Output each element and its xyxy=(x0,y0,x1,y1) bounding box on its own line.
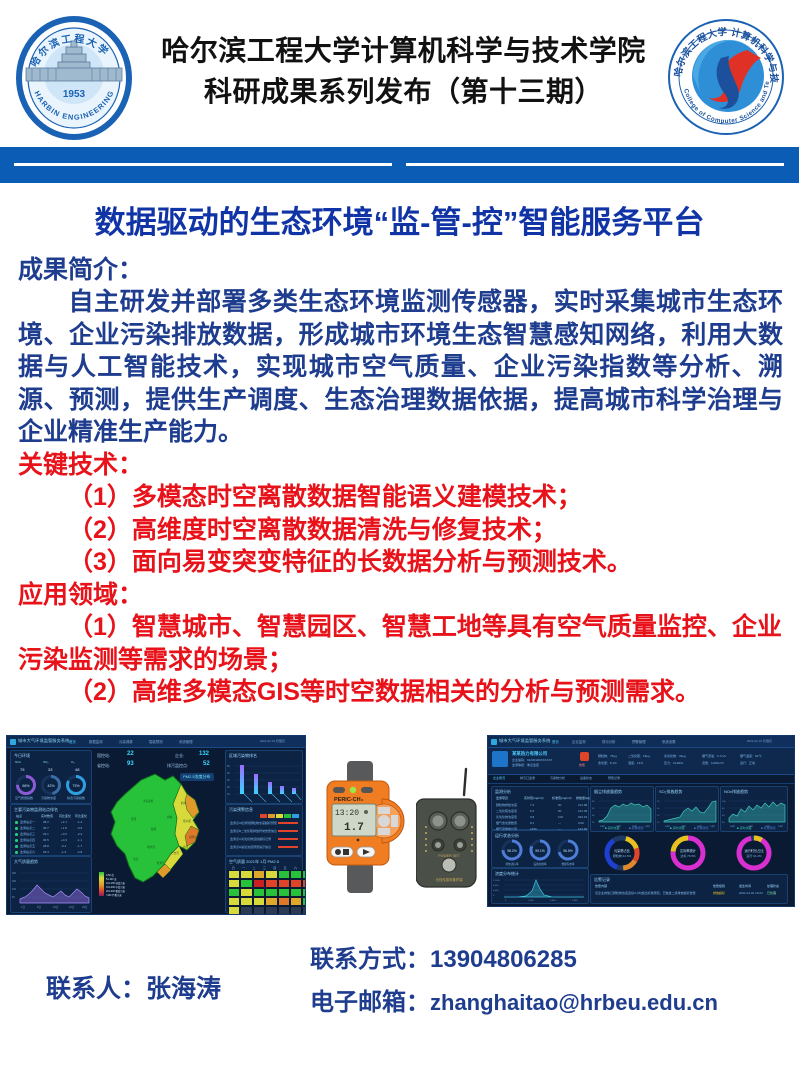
poster-header: 1953 HARBIN ENGINEERING UNIVERSITY 哈尔滨工程… xyxy=(0,0,799,143)
dashboard-user-info: 2021-01-01 管理员 xyxy=(260,739,285,743)
svg-text:2,000: 2,000 xyxy=(550,900,556,902)
right-gauge-group: 98.2% 99.1% 96.5% 排放达标率 设备在线率 xyxy=(492,837,588,867)
svg-text:40: 40 xyxy=(227,772,230,775)
svg-text:101-150 轻度污染: 101-150 轻度污染 xyxy=(106,881,126,885)
contact-block: 联系人：张海涛 联系方式：13904806285 电子邮箱：zhanghaita… xyxy=(0,925,799,1045)
svg-text:鸡西: 鸡西 xyxy=(183,845,189,849)
tab-4[interactable]: 预警记录 xyxy=(608,776,620,780)
svg-text:运行 91.2%: 运行 91.2% xyxy=(746,853,762,858)
station-table-title: 主要污染物监测站点排名 xyxy=(14,807,58,813)
svg-text:1日: 1日 xyxy=(21,905,25,909)
intro-heading: 成果简介： xyxy=(18,254,783,286)
trend-title: 大气质量趋势 xyxy=(14,859,38,865)
svg-text:0: 0 xyxy=(505,900,507,902)
page-title: 数据驱动的生态环境“监-管-控”智能服务平台 xyxy=(0,197,799,242)
seal-year: 1953 xyxy=(63,89,86,100)
enterprise-icon xyxy=(492,751,508,767)
svg-text:20: 20 xyxy=(227,786,230,789)
alert-level-legend xyxy=(260,814,299,818)
right-dashboard-logo-icon xyxy=(491,739,497,745)
svg-text:80: 80 xyxy=(722,808,725,810)
contact-email-value: zhanghaitao@hrbeu.edu.cn xyxy=(430,990,718,1015)
heilongjiang-province-map[interactable]: 大兴安岭黑河绥化 伊春鹤岗佳木斯 双鸭山哈尔滨七台河 牡丹江大庆鸡西 0-50 … xyxy=(95,760,221,902)
svg-text:60: 60 xyxy=(592,808,595,810)
header-title-block: 哈尔滨工程大学计算机科学与技术学院 科研成果系列发布（第十三期） xyxy=(153,33,646,111)
svg-text:佳木斯: 佳木斯 xyxy=(183,819,191,823)
svg-text:300: 300 xyxy=(12,872,17,875)
svg-text:50: 50 xyxy=(12,896,15,899)
svg-text:22日: 22日 xyxy=(69,905,75,909)
harbin-engineering-university-seal: 1953 HARBIN ENGINEERING UNIVERSITY 哈尔滨工程… xyxy=(12,16,136,140)
header-title-line1: 哈尔滨工程大学计算机科学与技术学院 xyxy=(161,33,646,70)
svg-text:POWER SET: POWER SET xyxy=(438,854,460,858)
detector-model-label: PERIC-CH₄ xyxy=(334,797,364,803)
device-photo-group: PERIC-CH₄ 13:20 1.7 xyxy=(312,735,482,913)
area-chart-panel-2: NOx排放趋势 100806040 00时08时16时24时 ■ 实时浓度 ■ … xyxy=(720,786,788,832)
area-chart-title-0: 烟尘排放量趋势 xyxy=(594,789,622,795)
svg-text:100: 100 xyxy=(722,801,726,803)
svg-text:颗粒物 42.6%: 颗粒物 42.6% xyxy=(613,853,632,858)
svg-text:29日: 29日 xyxy=(82,905,88,909)
alert-log-panel: 告警记录 告警内容 告警级别 发生时间 处理状态 该企业排放口颗粒物浓度连续3小… xyxy=(590,874,788,904)
svg-text:0-50 优: 0-50 优 xyxy=(106,873,114,877)
monitor-table-panel: 监测分析 监测项目 实时值(mg/m³) 标准值(mg/m³) 排放量(kg) … xyxy=(491,786,589,830)
dashboard-nav-1[interactable]: 数据监测 xyxy=(89,739,103,744)
area-chart-panel-1: SO₂排放趋势 50402010 00时08时16时24时 ■ 实时浓度 ■ 标… xyxy=(655,786,719,832)
contact-email-label: 电子邮箱： xyxy=(310,989,430,1016)
svg-text:73%: 73% xyxy=(72,784,80,788)
svg-text:无线传感采集终端: 无线传感采集终端 xyxy=(435,877,463,882)
svg-text:201-300 重度污染: 201-300 重度污染 xyxy=(106,889,126,893)
key-tech-item-1: （1）多模态时空离散数据智能语义建模技术； xyxy=(18,481,783,514)
svg-text:15日: 15日 xyxy=(53,905,59,909)
area-chart-title-1: SO₂排放趋势 xyxy=(659,789,682,795)
svg-text:80: 80 xyxy=(592,801,595,803)
map-legend: 0-50 优51-100 良 101-150 轻度污染151-200 中度污染 … xyxy=(99,872,145,898)
donut-title-2: 运行时长占比 xyxy=(744,848,763,853)
contact-person-label: 联系人： xyxy=(46,975,146,1003)
svg-text:绥化: 绥化 xyxy=(151,827,157,831)
table-header-1: 实时数值 xyxy=(41,814,53,818)
dashboard-nav-4[interactable]: 系统管理 xyxy=(179,739,193,744)
tab-1[interactable]: 排污口监测 xyxy=(520,776,535,780)
station-ranking-panel: 主要污染物监测站点排名 站点 实时数值 同比变化 环比变化 监测站点一38.2+… xyxy=(10,804,92,856)
tab-2[interactable]: 污染物分析 xyxy=(550,776,565,780)
svg-text:99.1%: 99.1% xyxy=(535,849,545,853)
right-gauge-label-1: 设备在线率 xyxy=(534,862,547,866)
svg-text:>300 严重污染: >300 严重污染 xyxy=(106,893,122,897)
key-tech-item-2: （2）高维度时空离散数据清洗与修复技术； xyxy=(18,514,783,547)
today-index-panel: 今日环境 NOx SO₂ O₃ 75 33 48 68% xyxy=(10,750,92,804)
svg-text:哈尔滨: 哈尔滨 xyxy=(147,845,155,849)
dashboard-nav-3[interactable]: 智能预测 xyxy=(149,739,163,744)
log-title: 告警记录 xyxy=(594,877,610,883)
stat-label-0: 国控站: xyxy=(97,753,110,759)
contact-phone-value: 13904806285 xyxy=(430,946,577,973)
svg-text:40: 40 xyxy=(592,815,595,817)
svg-text:双鸭山: 双鸭山 xyxy=(189,835,197,839)
application-item-1: （1）智慧城市、智慧园区、智慧工地等具有空气质量监控、企业污染监测等需求的场景； xyxy=(18,611,783,676)
tab-0[interactable]: 企业概况 xyxy=(493,776,505,780)
bar3d-title: 区域污染物排名 xyxy=(229,753,257,759)
tab-3[interactable]: 设备状态 xyxy=(580,776,592,780)
svg-text:12,000: 12,000 xyxy=(493,880,500,882)
table-header-0: 站点 xyxy=(16,814,22,818)
svg-text:151-200 中度污染: 151-200 中度污染 xyxy=(106,885,126,889)
dashboard-app-title: 城市大气环境监管服务系统 xyxy=(18,738,69,744)
svg-text:100: 100 xyxy=(12,888,17,891)
alert-list-panel: 污染预警信息 监测点A检测到颗粒物浓度超标预警 监测点B二氧化硫排放异常告警信息… xyxy=(225,804,303,856)
contact-phone-label: 联系方式： xyxy=(310,946,430,973)
right-gauge-label-2: 数据有效率 xyxy=(562,862,575,866)
intro-paragraph: 自主研发并部署多类生态环境监测传感器，实时采集城市生态环境、企业污染排放数据，形… xyxy=(18,286,783,449)
svg-text:1,000: 1,000 xyxy=(528,900,534,902)
application-heading: 应用领域： xyxy=(18,579,783,612)
detector-lcd-time: 13:20 xyxy=(335,809,359,818)
svg-text:黑河: 黑河 xyxy=(131,817,137,821)
today-index-title: 今日环境 xyxy=(14,753,30,759)
calendar-grid: 日 一 二 三 四 五 六 xyxy=(228,866,306,915)
calendar-title: 空气质量 2021年 1月 PM2.5 xyxy=(229,859,279,865)
content-body: 成果简介： 自主研发并部署多类生态环境监测传感器，实时采集城市生态环境、企业污染… xyxy=(0,242,799,709)
svg-text:50: 50 xyxy=(657,801,660,803)
table-header-3: 环比变化 xyxy=(75,814,87,818)
svg-text:60: 60 xyxy=(722,815,725,817)
right-gauge-panel: 运行状态分析 98.2% 99.1% 96. xyxy=(491,830,589,868)
svg-text:4,000: 4,000 xyxy=(493,890,499,892)
svg-text:3,000: 3,000 xyxy=(572,900,578,902)
dashboard-nav-2[interactable]: 污染溯源 xyxy=(119,739,133,744)
poster-page: 1953 HARBIN ENGINEERING UNIVERSITY 哈尔滨工程… xyxy=(0,0,799,1066)
application-item-2: （2）高维多模态GIS等时空数据相关的分析与预测需求。 xyxy=(18,676,783,709)
right-dashboard-app-title: 城市大气环境监管服务系统 xyxy=(499,738,550,744)
area-chart-title-2: NOx排放趋势 xyxy=(724,789,748,795)
svg-text:达标 76.5%: 达标 76.5% xyxy=(680,853,696,858)
contact-phone: 联系方式：13904806285 xyxy=(310,939,577,974)
dashboard-logo-icon xyxy=(10,739,16,745)
svg-text:200: 200 xyxy=(12,880,17,883)
distribution-chart: 12,0008,0004,0000 01,0002,0003,000 xyxy=(492,876,588,902)
wireless-sensor-remote: POWER SET 无线传感采集终端 xyxy=(416,765,482,897)
contact-person-name: 张海涛 xyxy=(146,975,221,1003)
right-table-title: 监测分析 xyxy=(495,789,511,795)
key-tech-item-3: （3）面向易变突变特征的长数据分析与预测技术。 xyxy=(18,546,783,579)
svg-text:51-100 良: 51-100 良 xyxy=(106,877,117,881)
area-chart-panel-0: 烟尘排放量趋势 80604020 00时08时16时24时 ■ 实时浓度 ■ 标… xyxy=(590,786,654,832)
svg-text:8日: 8日 xyxy=(37,905,41,909)
trend-area-chart: 1日8日15日22日29日 30020010050 xyxy=(11,867,91,911)
contact-email: 电子邮箱：zhanghaitao@hrbeu.edu.cn xyxy=(310,982,718,1017)
header-title-line2: 科研成果系列发布（第十三期） xyxy=(161,74,646,111)
bar3d-chart: 5040302010 xyxy=(226,760,302,802)
svg-text:20: 20 xyxy=(592,822,595,824)
enterprise-pollution-monitoring-dashboard: 城市大气环境监管服务系统 首页 企业监测 排污分析 预警管理 系统设置 2021… xyxy=(487,735,795,907)
svg-text:鹤岗: 鹤岗 xyxy=(181,801,187,805)
divider-line-right xyxy=(406,163,784,166)
detector-lcd-value: 1.7 xyxy=(344,822,364,834)
svg-text:98.2%: 98.2% xyxy=(507,849,517,853)
svg-text:24时: 24时 xyxy=(710,824,715,828)
calendar-heatmap-panel: 空气质量 2021年 1月 PM2.5 日 一 二 三 四 五 六 xyxy=(225,856,303,913)
contact-person: 联系人：张海涛 xyxy=(46,969,221,1005)
svg-text:96.5%: 96.5% xyxy=(563,849,573,853)
svg-text:大兴安岭: 大兴安岭 xyxy=(143,799,154,803)
svg-text:8,000: 8,000 xyxy=(493,885,499,887)
donut-group: 污染物占比 颗粒物 42.6% 达标率统计 达标 76.5% xyxy=(590,832,786,874)
tab-row: 企业概况 排污口监测 污染物分析 设备状态 预警记录 xyxy=(488,775,794,784)
distribution-panel: 浓度分布统计 12,0008,0004,0000 01,0002,0003,00… xyxy=(491,868,589,904)
svg-text:00时: 00时 xyxy=(730,824,735,828)
college-computer-science-technology-logo: 哈尔滨工程大学 计算机科学与技术学院 College of Computer S… xyxy=(661,14,791,140)
svg-text:68%: 68% xyxy=(22,784,30,788)
region-bar3d-panel: 区域污染物排名 xyxy=(225,750,303,804)
key-tech-heading: 关键技术： xyxy=(18,449,783,482)
svg-text:0: 0 xyxy=(493,895,495,897)
svg-text:40: 40 xyxy=(722,822,725,824)
enterprise-name: 某某热力有限公司 xyxy=(512,751,547,757)
trend-chart-panel: 大气质量趋势 1日8日15日22日29日 30020010050 xyxy=(10,856,92,913)
svg-text:50: 50 xyxy=(227,765,230,768)
alert-status-icon xyxy=(580,752,589,761)
svg-text:10: 10 xyxy=(227,793,230,796)
header-divider-bar xyxy=(0,147,799,183)
stat-value-0: 22 xyxy=(127,751,134,757)
stat-label-2: 企业: xyxy=(175,753,184,759)
svg-text:24时: 24时 xyxy=(645,824,650,828)
svg-text:42%: 42% xyxy=(47,784,55,788)
enterprise-header-band: 某某热力有限公司 企业编码：91230100XXXXXX 监测等级：重点监控 告… xyxy=(488,748,794,775)
svg-text:20: 20 xyxy=(657,815,660,817)
table-header-2: 同比变化 xyxy=(59,814,71,818)
svg-text:40: 40 xyxy=(657,808,660,810)
donut-title-0: 污染物占比 xyxy=(614,848,630,853)
svg-text:牡丹江: 牡丹江 xyxy=(157,861,165,865)
divider-line-left xyxy=(14,163,392,166)
svg-text:30: 30 xyxy=(227,779,230,782)
stat-value-2: 132 xyxy=(199,751,209,757)
portable-gas-detector: PERIC-CH₄ 13:20 1.7 xyxy=(322,759,414,895)
svg-text:24时: 24时 xyxy=(778,824,783,828)
right-gauge-label-0: 排放达标率 xyxy=(506,862,519,866)
svg-text:七台河: 七台河 xyxy=(171,851,179,855)
figure-strip: 城市大气环境监管服务系统 首页 数据监测 污染溯源 智能预测 系统管理 2021… xyxy=(0,733,799,916)
dashboard-nav-0[interactable]: 首页 xyxy=(69,739,76,744)
svg-text:伊春: 伊春 xyxy=(167,815,173,819)
svg-text:10: 10 xyxy=(657,822,660,824)
intro-text: 自主研发并部署多类生态环境监测传感器，实时采集城市生态环境、企业污染排放数据，形… xyxy=(18,288,783,446)
air-quality-monitoring-dashboard: 城市大气环境监管服务系统 首页 数据监测 污染溯源 智能预测 系统管理 2021… xyxy=(6,735,306,915)
alert-title: 污染预警信息 xyxy=(229,807,253,813)
svg-text:大庆: 大庆 xyxy=(133,857,139,861)
donut-title-1: 达标率统计 xyxy=(680,848,697,853)
